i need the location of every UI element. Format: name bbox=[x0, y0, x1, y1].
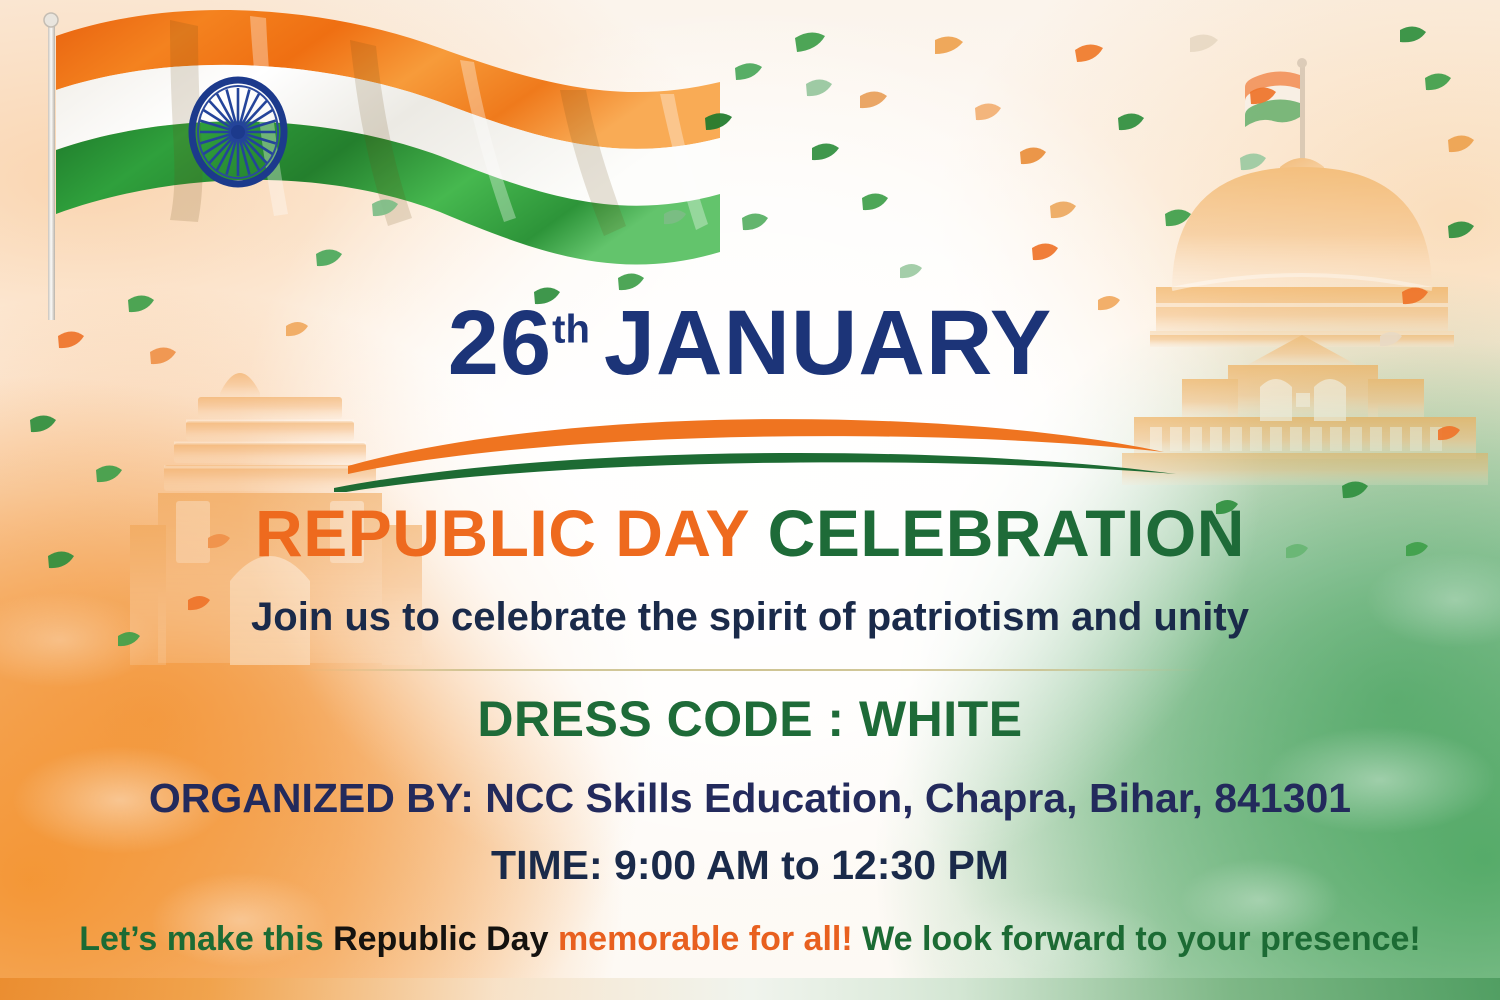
tagline-segment-1: Let’s make this bbox=[79, 920, 333, 958]
tagline-segment-2: Republic Day bbox=[333, 920, 558, 958]
title-republic-day: REPUBLIC DAY bbox=[255, 496, 749, 570]
republic-day-poster: 26thJANUARY REPUBLIC DAY CELEBRATION Joi… bbox=[0, 0, 1500, 1000]
date-month: JANUARY bbox=[604, 292, 1052, 394]
poster-text-content: 26thJANUARY REPUBLIC DAY CELEBRATION Joi… bbox=[0, 0, 1500, 1000]
page-title: REPUBLIC DAY CELEBRATION bbox=[0, 500, 1500, 566]
tricolor-swoosh-ribbon bbox=[330, 412, 1180, 492]
title-celebration: CELEBRATION bbox=[768, 496, 1245, 570]
event-subtitle: Join us to celebrate the spirit of patri… bbox=[0, 597, 1500, 637]
organizer-text: ORGANIZED BY: NCC Skills Education, Chap… bbox=[0, 778, 1500, 819]
event-date-headline: 26thJANUARY bbox=[0, 297, 1500, 389]
closing-tagline: Let’s make this Republic Day memorable f… bbox=[0, 922, 1500, 956]
date-ordinal: th bbox=[552, 307, 590, 351]
date-day: 26 bbox=[448, 292, 552, 394]
bottom-color-strip bbox=[0, 978, 1500, 1000]
event-time-text: TIME: 9:00 AM to 12:30 PM bbox=[0, 845, 1500, 886]
tagline-segment-4: We look forward to your presence! bbox=[862, 920, 1421, 958]
section-divider bbox=[295, 669, 1205, 671]
dress-code-text: DRESS CODE : WHITE bbox=[0, 694, 1500, 744]
tagline-segment-3: memorable for all! bbox=[558, 920, 862, 958]
